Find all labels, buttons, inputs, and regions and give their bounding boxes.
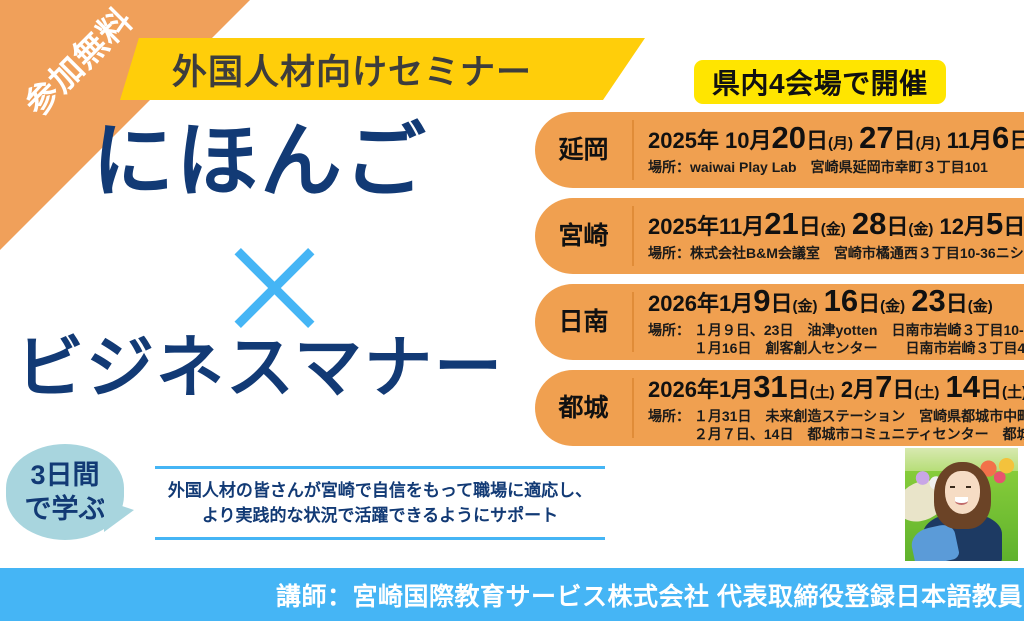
date-day-1-dow: (月) bbox=[828, 135, 853, 152]
schedule-info: 2025年 10月20日(月) 27日(月) 11月6日(月) 場所：waiwa… bbox=[634, 124, 1024, 176]
date-day-1-suffix: 日 bbox=[799, 214, 821, 239]
duration-line-2: で学ぶ bbox=[25, 492, 106, 526]
date-day-3-suffix: 日 bbox=[1003, 214, 1024, 239]
bubble-tail bbox=[104, 500, 134, 532]
venue-line: 場所：株式会社B&M会議室 宮崎市橘通西３丁目10-36ニシムラビ bbox=[648, 244, 1024, 262]
cross-icon bbox=[222, 236, 326, 340]
date-day-2-dow: (金) bbox=[908, 221, 933, 238]
schedule-info: 2025年11月21日(金) 28日(金) 12月5日(金) 場所：株式会社B&… bbox=[634, 210, 1024, 262]
date-day-1-dow: (土) bbox=[810, 384, 835, 401]
venues-badge-label: 県内4会場で開催 bbox=[712, 62, 928, 102]
date-prefix: 2026年1月 bbox=[648, 377, 753, 402]
date-day-1-suffix: 日 bbox=[806, 128, 828, 153]
city-label-nobeoka: 延岡 bbox=[535, 137, 632, 164]
date-day-1-suffix: 日 bbox=[770, 291, 792, 316]
schedule-row-nichinan: 日南 2026年1月9日(金) 16日(金) 23日(金) 場所： １月９日、2… bbox=[535, 284, 1024, 360]
description-text: 外国人材の皆さんが宮崎で自信をもって職場に適応し、 より実践的な状況で活躍できる… bbox=[155, 469, 605, 537]
instructor-footer-bar: 講師：宮崎国際教育サービス株式会社 代表取締役登録日本語教員 和田恵先生 bbox=[0, 568, 1024, 621]
venue-line: ２月７日、14日 都城市コミュニティセンター 都城市姫城町10街区７号 bbox=[648, 425, 1024, 443]
description-line-2: より実践的な状況で活躍できるようにサポート bbox=[155, 503, 605, 528]
schedule-row-nobeoka: 延岡 2025年 10月20日(月) 27日(月) 11月6日(月) 場所：wa… bbox=[535, 112, 1024, 188]
schedule-dates: 2025年11月21日(金) 28日(金) 12月5日(金) bbox=[648, 210, 1024, 244]
date-day-2: 16 bbox=[824, 287, 858, 318]
description-block: 外国人材の皆さんが宮崎で自信をもって職場に適応し、 より実践的な状況で活躍できる… bbox=[155, 466, 605, 540]
seminar-banner-title: 外国人材向けセミナー bbox=[172, 44, 532, 95]
venues-badge: 県内4会場で開催 bbox=[694, 60, 946, 104]
title-line-business-manner: ビジネスマナー bbox=[0, 332, 520, 404]
date-day-3: 5 bbox=[986, 210, 1003, 241]
venue-line: 場所：waiwai Play Lab 宮崎県延岡市幸町３丁目101 bbox=[648, 158, 1024, 176]
poster-root: 参加無料 外国人材向けセミナー 県内4会場で開催 にほんご ビジネスマナー 延岡… bbox=[0, 0, 1024, 621]
photo-person-face bbox=[945, 471, 980, 514]
date-day-3-suffix: 日 bbox=[1009, 128, 1024, 153]
city-label-miyakonojo: 都城 bbox=[535, 395, 632, 422]
description-line-1: 外国人材の皆さんが宮崎で自信をもって職場に適応し、 bbox=[155, 478, 605, 503]
date-day-2-suffix: 日 bbox=[858, 291, 880, 316]
date-day-1-dow: (金) bbox=[792, 298, 817, 315]
city-label-miyazaki: 宮崎 bbox=[535, 223, 632, 250]
schedule-list: 延岡 2025年 10月20日(月) 27日(月) 11月6日(月) 場所：wa… bbox=[535, 112, 1024, 456]
date-day-1-suffix: 日 bbox=[788, 377, 810, 402]
date-month-3: 12月 bbox=[939, 214, 985, 239]
date-day-2-dow: (月) bbox=[916, 135, 941, 152]
date-prefix: 2025年 10月 bbox=[648, 128, 772, 153]
date-day-2-suffix: 日 bbox=[894, 128, 916, 153]
venue-line: 場所： １月31日 未来創造ステーション 宮崎県都城市中町16-15 bbox=[648, 407, 1024, 425]
title-line-japanese: にほんご bbox=[0, 120, 520, 204]
date-day-2-suffix: 日 bbox=[892, 377, 914, 402]
schedule-row-miyazaki: 宮崎 2025年11月21日(金) 28日(金) 12月5日(金) 場所：株式会… bbox=[535, 198, 1024, 274]
schedule-dates: 2026年1月9日(金) 16日(金) 23日(金) bbox=[648, 287, 1024, 321]
date-day-1: 31 bbox=[753, 373, 787, 404]
photo-person-eye-right bbox=[966, 486, 971, 488]
instructor-photo bbox=[905, 448, 1018, 561]
instructor-footer-text: 講師：宮崎国際教育サービス株式会社 代表取締役登録日本語教員 和田恵先生 bbox=[276, 577, 1024, 613]
date-day-3-suffix: 日 bbox=[980, 377, 1002, 402]
date-day-2-dow: (土) bbox=[914, 384, 939, 401]
date-month-2: 2月 bbox=[841, 377, 875, 402]
date-day-2: 27 bbox=[859, 124, 893, 155]
schedule-info: 2026年1月9日(金) 16日(金) 23日(金) 場所： １月９日、23日 … bbox=[634, 287, 1024, 357]
date-day-2: 28 bbox=[852, 210, 886, 241]
date-day-3-suffix: 日 bbox=[946, 291, 968, 316]
venue-line: １月16日 創客創人センター 日南市岩崎３丁目4‐1‐2 itten堀川 bbox=[648, 339, 1024, 357]
date-day-2-suffix: 日 bbox=[886, 214, 908, 239]
description-rule-bottom bbox=[155, 537, 605, 540]
schedule-dates: 2025年 10月20日(月) 27日(月) 11月6日(月) bbox=[648, 124, 1024, 158]
date-day-2-dow: (金) bbox=[880, 298, 905, 315]
schedule-info: 2026年1月31日(土) 2月7日(土) 14日(土) 場所： １月31日 未… bbox=[634, 373, 1024, 443]
seminar-banner: 外国人材向けセミナー bbox=[120, 38, 645, 100]
duration-line-1: 3日間 bbox=[30, 458, 99, 492]
photo-person-eye-left bbox=[950, 486, 955, 488]
date-day-1-dow: (金) bbox=[821, 221, 846, 238]
date-day-3: 14 bbox=[945, 373, 979, 404]
date-day-3: 23 bbox=[911, 287, 945, 318]
city-label-nichinan: 日南 bbox=[535, 309, 632, 336]
date-day-1: 21 bbox=[764, 210, 798, 241]
date-day-3-dow: (金) bbox=[968, 298, 993, 315]
date-day-3: 6 bbox=[992, 124, 1009, 155]
date-day-1: 9 bbox=[753, 287, 770, 318]
date-prefix: 2026年1月 bbox=[648, 291, 753, 316]
venue-line: 場所： １月９日、23日 油津yotten 日南市岩崎３丁目10-6 bbox=[648, 321, 1024, 339]
schedule-dates: 2026年1月31日(土) 2月7日(土) 14日(土) bbox=[648, 373, 1024, 407]
date-day-3-dow: (土) bbox=[1002, 384, 1024, 401]
schedule-row-miyakonojo: 都城 2026年1月31日(土) 2月7日(土) 14日(土) 場所： １月31… bbox=[535, 370, 1024, 446]
date-month-3: 11月 bbox=[947, 128, 992, 153]
date-prefix: 2025年11月 bbox=[648, 214, 764, 239]
date-day-1: 20 bbox=[772, 124, 806, 155]
date-day-2: 7 bbox=[875, 373, 892, 404]
